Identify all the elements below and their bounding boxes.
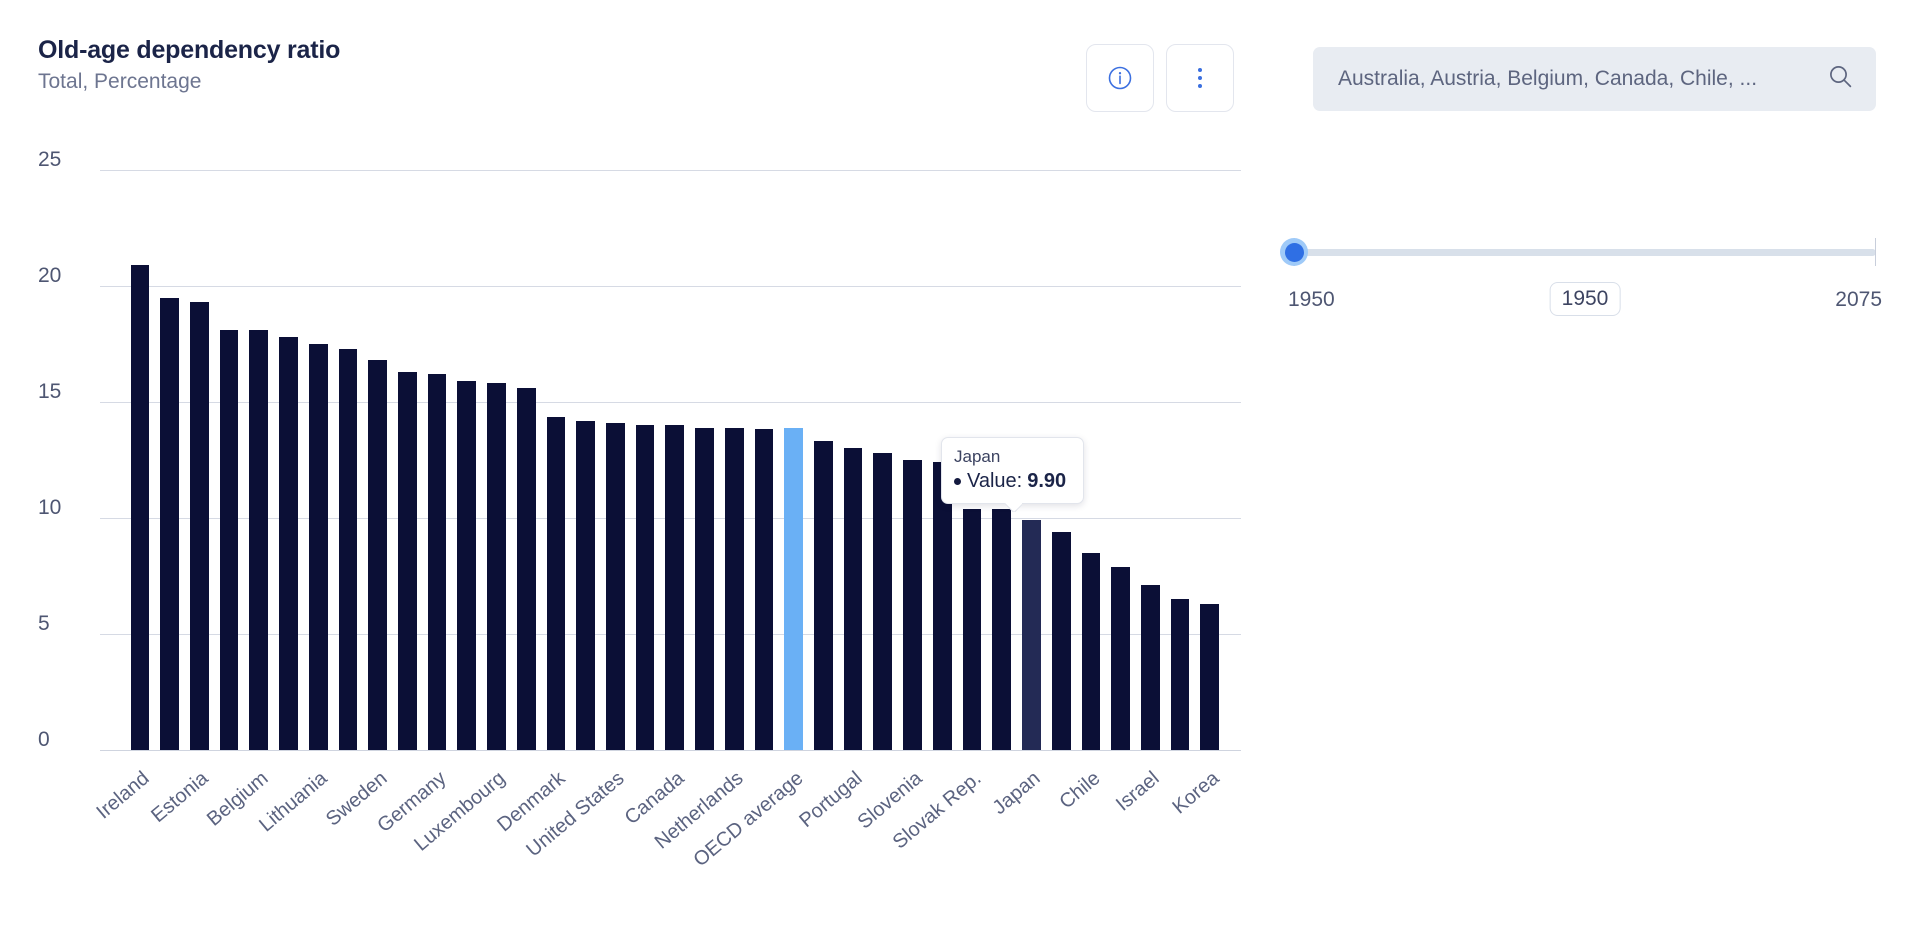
bar-slot[interactable] — [184, 140, 214, 755]
x-label-slot — [1165, 758, 1195, 908]
tooltip-value: 9.90 — [1027, 469, 1066, 493]
x-label-slot: Slovak Rep. — [957, 758, 987, 908]
tooltip-title: Japan — [954, 447, 1071, 467]
tooltip-row: Value: 9.90 — [954, 469, 1071, 493]
bar[interactable] — [963, 509, 982, 750]
bar-slot[interactable] — [809, 140, 839, 755]
bar-slot[interactable] — [422, 140, 452, 755]
bar[interactable] — [725, 428, 744, 750]
slider-min-label: 1950 — [1288, 288, 1335, 312]
slider-track[interactable] — [1294, 238, 1876, 266]
search-icon[interactable] — [1827, 63, 1854, 95]
x-label-slot — [749, 758, 779, 908]
bar-slot[interactable] — [511, 140, 541, 755]
bar[interactable] — [487, 383, 506, 750]
x-label-slot: Lithuania — [303, 758, 333, 908]
x-label-slot — [927, 758, 957, 908]
bar[interactable] — [249, 330, 268, 750]
x-label-slot — [274, 758, 304, 908]
x-label-slot — [214, 758, 244, 908]
info-button[interactable] — [1086, 44, 1154, 112]
bar[interactable] — [1141, 585, 1160, 750]
x-label-slot — [155, 758, 185, 908]
x-label-slot: Japan — [1017, 758, 1047, 908]
bar[interactable] — [873, 453, 892, 750]
bar-slot[interactable] — [868, 140, 898, 755]
tooltip-arrow — [1004, 503, 1022, 512]
time-slider[interactable]: 1950 1950 2075 — [1294, 238, 1876, 320]
chart-tooltip: Japan Value: 9.90 — [941, 437, 1084, 504]
bar[interactable] — [428, 374, 447, 750]
slider-max-label: 2075 — [1835, 288, 1882, 312]
bar[interactable] — [784, 428, 803, 750]
y-axis-tick-label: 10 — [38, 496, 90, 520]
slider-labels: 1950 1950 2075 — [1294, 282, 1876, 320]
bar-slot[interactable] — [274, 140, 304, 755]
bar[interactable] — [1111, 567, 1130, 750]
x-label-slot: United States — [601, 758, 631, 908]
bar[interactable] — [606, 423, 625, 750]
bar-slot[interactable] — [571, 140, 601, 755]
bar-slot[interactable] — [630, 140, 660, 755]
y-axis-tick-label: 20 — [38, 264, 90, 288]
bar-slot[interactable] — [363, 140, 393, 755]
bar-slot[interactable] — [333, 140, 363, 755]
tooltip-series-dot — [954, 478, 961, 485]
bar[interactable] — [1171, 599, 1190, 750]
bar[interactable] — [992, 509, 1011, 750]
bar-slot[interactable] — [541, 140, 571, 755]
tooltip-label: Value: — [967, 469, 1022, 493]
slider-end-tick — [1875, 238, 1876, 266]
bar-slot[interactable] — [125, 140, 155, 755]
x-axis-label: Ireland — [93, 768, 153, 823]
bar-slot[interactable] — [601, 140, 631, 755]
bar[interactable] — [814, 441, 833, 750]
bar-slot[interactable] — [214, 140, 244, 755]
bar-slot[interactable] — [660, 140, 690, 755]
bar-slot[interactable] — [155, 140, 185, 755]
bar[interactable] — [576, 421, 595, 750]
x-label-slot — [1106, 758, 1136, 908]
chart-header: Old-age dependency ratio Total, Percenta… — [38, 36, 1038, 94]
chart-page: Old-age dependency ratio Total, Percenta… — [0, 0, 1920, 925]
y-axis-tick-label: 5 — [38, 612, 90, 636]
x-label-slot: Israel — [1135, 758, 1165, 908]
x-axis-labels: IrelandEstoniaBelgiumLithuaniaSwedenGerm… — [125, 758, 1225, 908]
bar-slot[interactable] — [392, 140, 422, 755]
bar[interactable] — [398, 372, 417, 750]
bar-slot[interactable] — [749, 140, 779, 755]
bar[interactable] — [695, 428, 714, 750]
bar[interactable] — [368, 360, 387, 750]
country-select-input[interactable]: Australia, Austria, Belgium, Canada, Chi… — [1313, 47, 1876, 111]
bar[interactable] — [190, 302, 209, 750]
bar[interactable] — [131, 265, 150, 750]
bar-slot[interactable] — [1106, 140, 1136, 755]
slider-rail[interactable] — [1294, 249, 1876, 256]
country-select-value: Australia, Austria, Belgium, Canada, Chi… — [1338, 67, 1817, 91]
y-axis-tick-label: 25 — [38, 148, 90, 172]
x-label-slot: Korea — [1195, 758, 1225, 908]
bar[interactable] — [755, 429, 774, 750]
bar[interactable] — [636, 425, 655, 750]
bar[interactable] — [1052, 532, 1071, 750]
page-title: Old-age dependency ratio — [38, 36, 1038, 65]
bar-slot[interactable] — [1135, 140, 1165, 755]
bar[interactable] — [457, 381, 476, 750]
bar[interactable] — [517, 388, 536, 750]
x-label-slot: Chile — [1076, 758, 1106, 908]
info-circle-icon — [1107, 65, 1133, 91]
bar[interactable] — [933, 462, 952, 750]
page-subtitle: Total, Percentage — [38, 69, 1038, 94]
bar-slot[interactable] — [838, 140, 868, 755]
bar-slot[interactable] — [452, 140, 482, 755]
x-label-slot — [1046, 758, 1076, 908]
bar-slot[interactable] — [719, 140, 749, 755]
x-label-slot: Portugal — [838, 758, 868, 908]
bar-slot[interactable] — [898, 140, 928, 755]
bar-slot[interactable] — [690, 140, 720, 755]
bar-slot[interactable] — [1195, 140, 1225, 755]
bar[interactable] — [339, 349, 358, 750]
x-label-slot — [987, 758, 1017, 908]
x-label-slot — [809, 758, 839, 908]
bar-slot[interactable] — [779, 140, 809, 755]
x-label-slot — [452, 758, 482, 908]
bar[interactable] — [844, 448, 863, 750]
bar[interactable] — [220, 330, 239, 750]
bar[interactable] — [903, 460, 922, 750]
bar[interactable] — [547, 417, 566, 750]
y-axis-tick-label: 0 — [38, 728, 90, 752]
bar-slot[interactable] — [1165, 140, 1195, 755]
bar[interactable] — [665, 425, 684, 750]
x-label-slot — [333, 758, 363, 908]
bar[interactable] — [160, 298, 179, 750]
slider-thumb[interactable] — [1280, 238, 1308, 266]
bar[interactable] — [1022, 520, 1041, 750]
kebab-menu-icon — [1198, 68, 1202, 88]
header-actions — [1086, 44, 1234, 112]
slider-value-field[interactable]: 1950 — [1550, 282, 1621, 316]
bar[interactable] — [279, 337, 298, 750]
bar-slot[interactable] — [482, 140, 512, 755]
x-label-slot: Ireland — [125, 758, 155, 908]
bar[interactable] — [1200, 604, 1219, 750]
more-options-button[interactable] — [1166, 44, 1234, 112]
bar[interactable] — [1082, 553, 1101, 750]
bar[interactable] — [309, 344, 328, 750]
bar-slot[interactable] — [244, 140, 274, 755]
x-label-slot: Estonia — [184, 758, 214, 908]
x-label-slot: OECD average — [779, 758, 809, 908]
y-axis-tick-label: 15 — [38, 380, 90, 404]
x-label-slot — [571, 758, 601, 908]
bar-slot[interactable] — [303, 140, 333, 755]
